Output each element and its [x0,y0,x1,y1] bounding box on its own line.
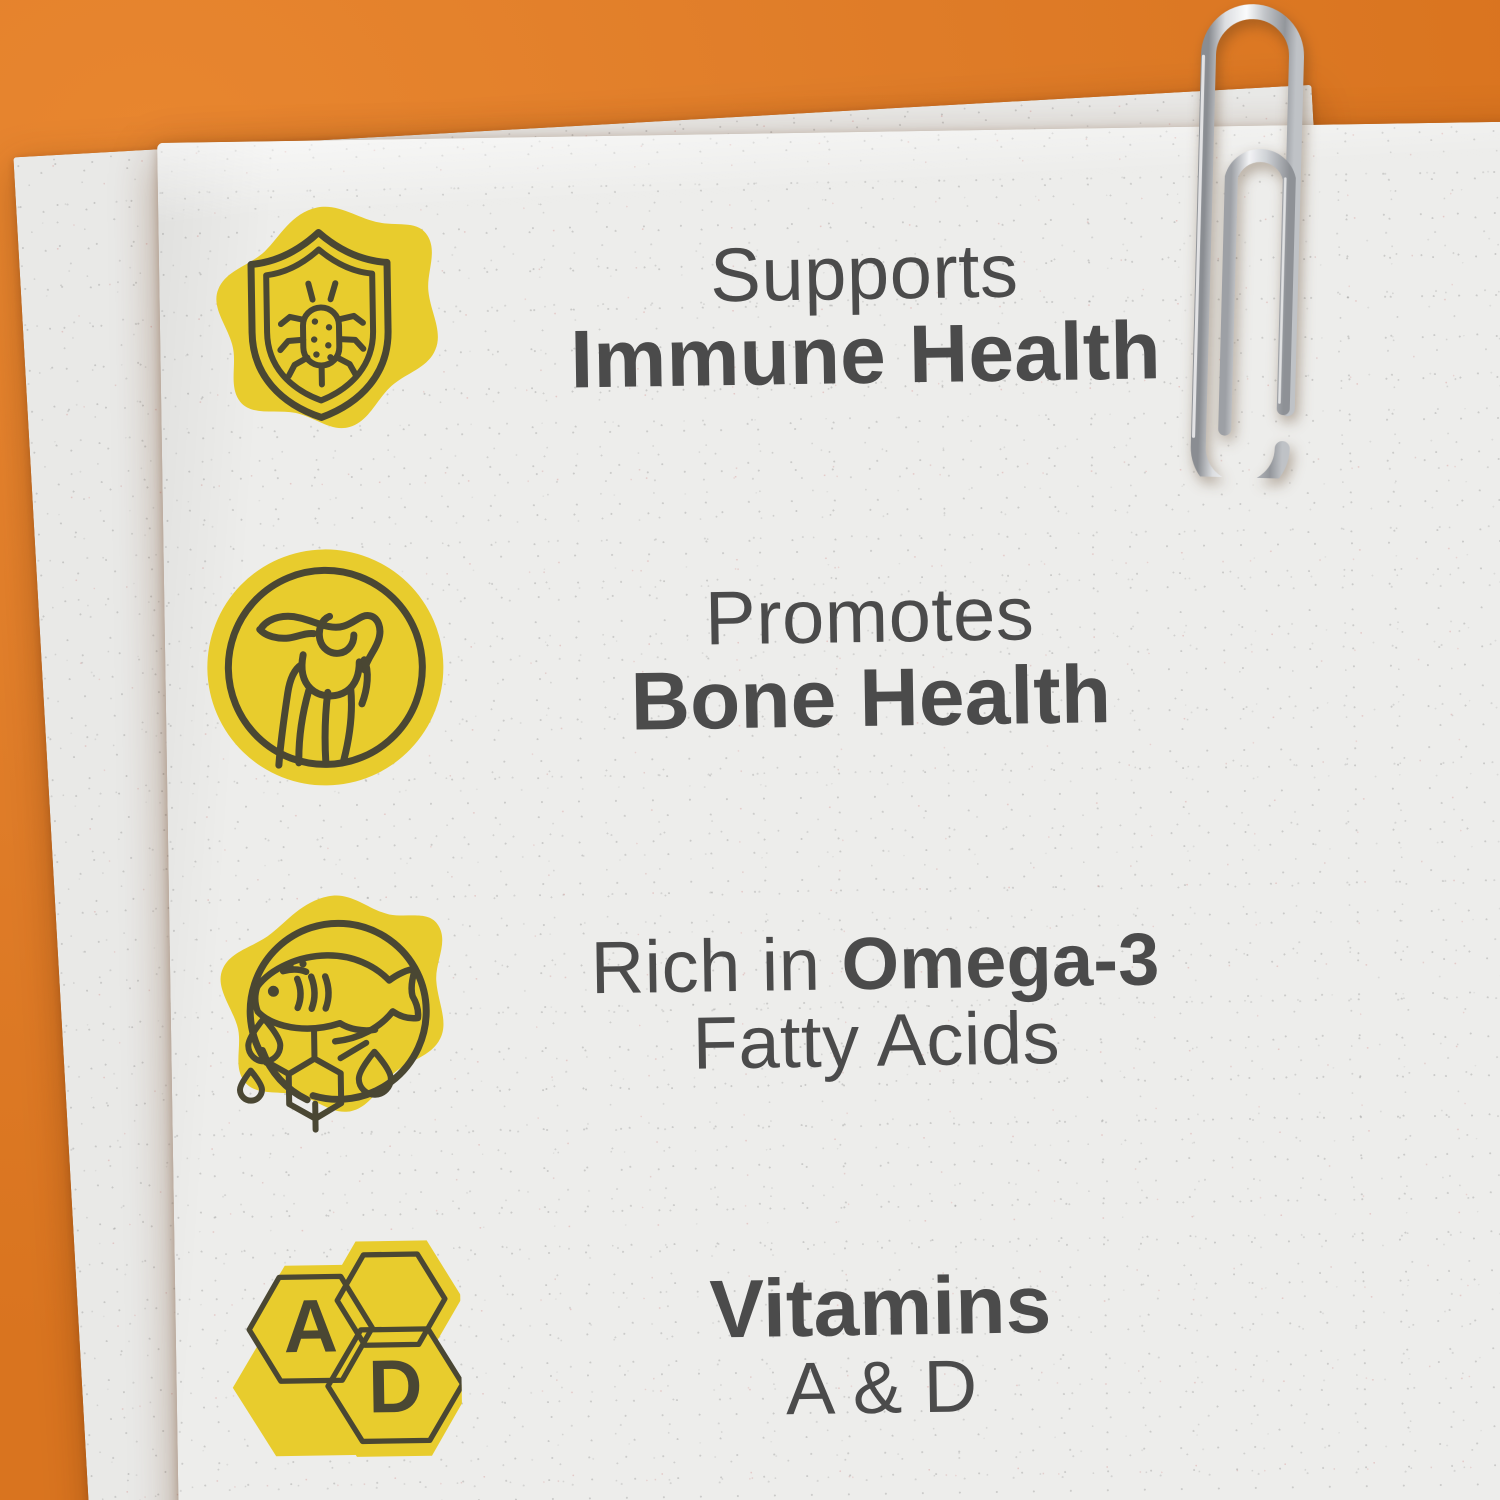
bone-joint-icon [198,541,452,795]
paperclip-icon [1161,0,1364,480]
hex-letter-d: D [368,1344,423,1429]
benefit-text-cell: Promotes Bone Health [484,571,1266,748]
benefits-list: Supports Immune Health [158,160,1279,1500]
benefit-line-2: Bone Health [485,650,1256,747]
benefit-row-vitamins-ad[interactable]: A D Vitamins A & D [174,1190,1279,1500]
hex-letter-a: A [283,1283,338,1368]
shield-bug-icon [193,198,447,452]
benefit-line-1-part-1: Rich in [590,922,842,1009]
benefit-line-2: Immune Health [480,307,1251,404]
benefit-line-1: Rich in Omega-3 [490,919,1261,1008]
benefit-icon-cell: A D [174,1227,498,1482]
benefit-text-cell: Vitamins A & D [495,1258,1277,1432]
vitamin-hexagons-ad-icon: A D [209,1227,463,1481]
benefit-icon-cell [163,540,487,795]
benefit-line-2: Fatty Acids [491,996,1262,1085]
benefit-text-cell: Supports Immune Health [479,228,1261,405]
benefit-line-1-part-2: Omega-3 [841,917,1160,1005]
product-benefits-graphic: Supports Immune Health [0,0,1500,1500]
benefit-line-2: A & D [496,1344,1267,1433]
benefit-line-1: Promotes [484,571,1255,662]
benefit-icon-cell [169,884,493,1139]
benefit-row-immune-health[interactable]: Supports Immune Health [158,160,1263,477]
fish-omega-icon [204,884,458,1138]
benefit-line-1: Vitamins [495,1259,1266,1356]
benefit-row-omega-3[interactable]: Rich in Omega-3 Fatty Acids [168,846,1273,1163]
benefit-text-cell: Rich in Omega-3 Fatty Acids [490,919,1272,1085]
benefit-row-bone-health[interactable]: Promotes Bone Health [163,503,1268,820]
benefit-icon-cell [158,197,482,452]
